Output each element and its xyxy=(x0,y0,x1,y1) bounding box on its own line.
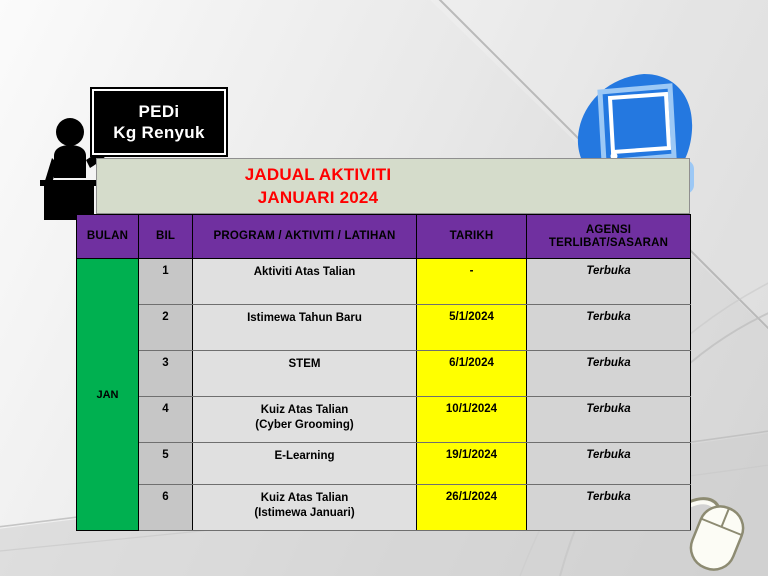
cell-program: Istimewa Tahun Baru xyxy=(193,305,417,351)
table-row: 3 STEM 6/1/2024 Terbuka xyxy=(77,351,691,397)
cell-bil: 5 xyxy=(139,443,193,485)
table-row: 2 Istimewa Tahun Baru 5/1/2024 Terbuka xyxy=(77,305,691,351)
table-row: 4 Kuiz Atas Talian (Cyber Grooming) 10/1… xyxy=(77,397,691,443)
cell-program: E-Learning xyxy=(193,443,417,485)
cell-program: Kuiz Atas Talian (Istimewa Januari) xyxy=(193,485,417,531)
program-line1: Istimewa Tahun Baru xyxy=(247,312,362,324)
cell-agensi: Terbuka xyxy=(527,397,691,443)
header-tarikh: TARIKH xyxy=(417,215,527,259)
header-bil: BIL xyxy=(139,215,193,259)
cell-agensi: Terbuka xyxy=(527,485,691,531)
activity-schedule-table: BULAN BIL PROGRAM / AKTIVITI / LATIHAN T… xyxy=(76,214,691,531)
slide-canvas: PEDi Kg Renyuk JADUAL AKTIVITI JAN xyxy=(0,0,768,576)
cell-bil: 2 xyxy=(139,305,193,351)
month-cell-jan: JAN xyxy=(77,259,139,531)
header-program: PROGRAM / AKTIVITI / LATIHAN xyxy=(193,215,417,259)
cell-tarikh: 10/1/2024 xyxy=(417,397,527,443)
header-agensi-line1: AGENSI xyxy=(586,224,631,236)
cell-agensi: Terbuka xyxy=(527,443,691,485)
cell-bil: 4 xyxy=(139,397,193,443)
program-line2: (Istimewa Januari) xyxy=(193,506,416,521)
pedi-sign-line1: PEDi xyxy=(139,101,180,122)
cell-tarikh: 6/1/2024 xyxy=(417,351,527,397)
program-line1: STEM xyxy=(289,358,321,370)
table-row: 6 Kuiz Atas Talian (Istimewa Januari) 26… xyxy=(77,485,691,531)
cell-program: Aktiviti Atas Talian xyxy=(193,259,417,305)
cell-bil: 1 xyxy=(139,259,193,305)
header-bulan: BULAN xyxy=(77,215,139,259)
title-line1: JADUAL AKTIVITI xyxy=(97,165,539,185)
table-header-row: BULAN BIL PROGRAM / AKTIVITI / LATIHAN T… xyxy=(77,215,691,259)
header-agensi: AGENSI TERLIBAT/SASARAN xyxy=(527,215,691,259)
table-row: 5 E-Learning 19/1/2024 Terbuka xyxy=(77,443,691,485)
title-line2: JANUARI 2024 xyxy=(97,188,539,208)
cell-tarikh: - xyxy=(417,259,527,305)
cell-tarikh: 19/1/2024 xyxy=(417,443,527,485)
cell-agensi: Terbuka xyxy=(527,351,691,397)
cell-program: Kuiz Atas Talian (Cyber Grooming) xyxy=(193,397,417,443)
pedi-sign-line2: Kg Renyuk xyxy=(113,122,205,143)
header-agensi-line2: TERLIBAT/SASARAN xyxy=(549,237,668,249)
cell-agensi: Terbuka xyxy=(527,305,691,351)
title-banner: JADUAL AKTIVITI JANUARI 2024 xyxy=(96,158,690,214)
pedi-sign: PEDi Kg Renyuk xyxy=(92,89,226,155)
program-line1: Kuiz Atas Talian xyxy=(261,492,349,504)
cell-tarikh: 5/1/2024 xyxy=(417,305,527,351)
cell-bil: 6 xyxy=(139,485,193,531)
program-line1: Kuiz Atas Talian xyxy=(261,404,349,416)
cell-tarikh: 26/1/2024 xyxy=(417,485,527,531)
cell-bil: 3 xyxy=(139,351,193,397)
program-line2: (Cyber Grooming) xyxy=(193,418,416,433)
table-row: JAN 1 Aktiviti Atas Talian - Terbuka xyxy=(77,259,691,305)
program-line1: E-Learning xyxy=(274,450,334,462)
program-line1: Aktiviti Atas Talian xyxy=(254,266,356,278)
cell-agensi: Terbuka xyxy=(527,259,691,305)
cell-program: STEM xyxy=(193,351,417,397)
